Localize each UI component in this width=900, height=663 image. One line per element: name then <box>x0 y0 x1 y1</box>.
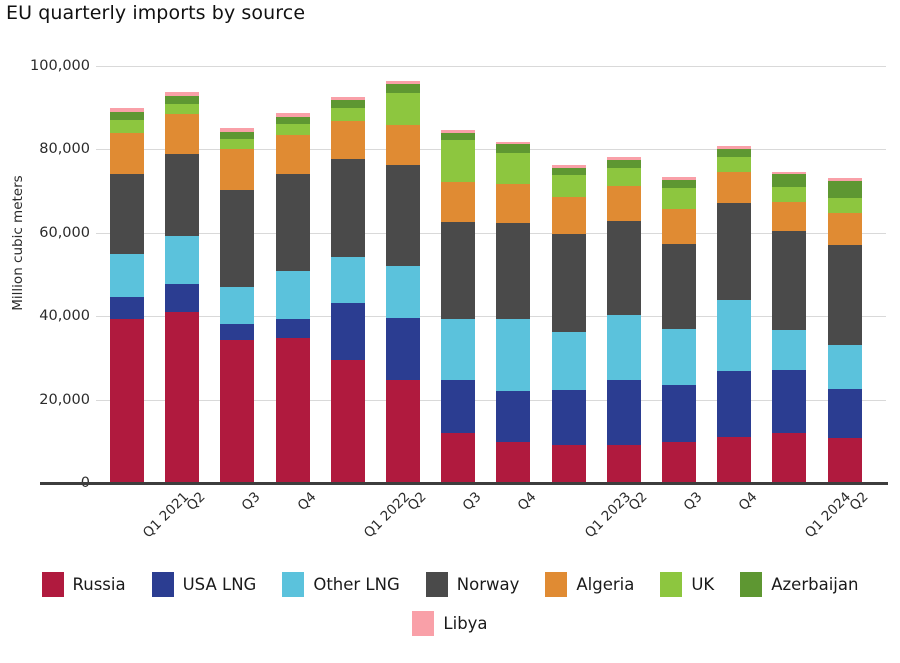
bar-segment-uk[interactable] <box>552 175 586 196</box>
bar-segment-norway[interactable] <box>828 245 862 345</box>
bar-segment-uk[interactable] <box>110 120 144 133</box>
y-axis-tick-label: 80,000 <box>39 141 90 157</box>
stacked-bar[interactable] <box>496 142 530 483</box>
legend-item-algeria[interactable]: Algeria <box>545 572 634 597</box>
bar-segment-azerbaijan[interactable] <box>662 180 696 188</box>
x-axis-tick-label: Q2 <box>625 489 650 514</box>
legend-row-primary: RussiaUSA LNGOther LNGNorwayAlgeriaUKAze… <box>0 572 900 597</box>
legend-item-libya[interactable]: Libya <box>412 611 487 636</box>
bar-segment-other-lng[interactable] <box>552 332 586 390</box>
legend-swatch <box>426 572 448 597</box>
bar-segment-other-lng[interactable] <box>220 287 254 324</box>
x-axis-tick-label: Q3 <box>239 489 264 514</box>
bar-segment-norway[interactable] <box>276 174 310 272</box>
bar-segment-russia[interactable] <box>717 437 751 483</box>
bar-segment-algeria[interactable] <box>331 121 365 159</box>
bar-segment-russia[interactable] <box>276 338 310 483</box>
bar-segment-usa-lng[interactable] <box>496 391 530 441</box>
bar-segment-uk[interactable] <box>165 104 199 115</box>
bar-segment-russia[interactable] <box>165 312 199 483</box>
bar-segment-other-lng[interactable] <box>110 254 144 297</box>
bar-segment-algeria[interactable] <box>717 172 751 203</box>
bar-segment-russia[interactable] <box>496 442 530 483</box>
bar-segment-uk[interactable] <box>607 168 641 186</box>
y-axis-tick-label: 60,000 <box>39 225 90 241</box>
bar-segment-russia[interactable] <box>607 445 641 483</box>
stacked-bar[interactable] <box>441 130 475 483</box>
legend-item-other-lng[interactable]: Other LNG <box>282 572 399 597</box>
bar-segment-usa-lng[interactable] <box>607 380 641 445</box>
bar-segment-algeria[interactable] <box>607 186 641 221</box>
bar-segment-russia[interactable] <box>662 442 696 483</box>
stacked-bar[interactable] <box>772 172 806 483</box>
bar-segment-uk[interactable] <box>496 153 530 185</box>
bar-segment-other-lng[interactable] <box>828 345 862 389</box>
stacked-bar[interactable] <box>276 113 310 483</box>
bar-segment-russia[interactable] <box>828 438 862 483</box>
bar-segment-uk[interactable] <box>331 108 365 121</box>
legend-label: Azerbaijan <box>771 575 858 594</box>
legend-label: UK <box>691 575 714 594</box>
x-axis-tick-label: Q4 <box>294 489 319 514</box>
bar-segment-usa-lng[interactable] <box>662 385 696 442</box>
stacked-bar[interactable] <box>165 92 199 483</box>
bar-segment-usa-lng[interactable] <box>276 319 310 339</box>
bar-segment-algeria[interactable] <box>165 114 199 153</box>
x-axis-tick-label: Q3 <box>460 489 485 514</box>
bar-segment-usa-lng[interactable] <box>165 284 199 312</box>
bar-segment-algeria[interactable] <box>276 135 310 174</box>
bar-segment-norway[interactable] <box>772 231 806 330</box>
x-axis-tick-label: Q3 <box>681 489 706 514</box>
bar-segment-norway[interactable] <box>607 221 641 314</box>
bar-segment-usa-lng[interactable] <box>331 303 365 361</box>
bar-segment-norway[interactable] <box>331 159 365 257</box>
bar-segment-algeria[interactable] <box>828 213 862 245</box>
plot-area <box>96 66 886 483</box>
legend-label: Algeria <box>576 575 634 594</box>
bar-segment-russia[interactable] <box>441 433 475 483</box>
bar-segment-azerbaijan[interactable] <box>552 168 586 175</box>
bar-segment-uk[interactable] <box>772 187 806 202</box>
legend-swatch <box>545 572 567 597</box>
bar-segment-other-lng[interactable] <box>386 266 420 319</box>
bar-segment-norway[interactable] <box>717 203 751 300</box>
bar-segment-algeria[interactable] <box>662 209 696 243</box>
stacked-bar[interactable] <box>220 128 254 483</box>
legend-swatch <box>42 572 64 597</box>
bar-segment-algeria[interactable] <box>496 184 530 222</box>
bar-segment-uk[interactable] <box>441 140 475 183</box>
bar-segment-russia[interactable] <box>331 360 365 483</box>
legend-row-secondary: Libya <box>0 611 900 636</box>
bar-segment-other-lng[interactable] <box>662 329 696 384</box>
legend-item-azerbaijan[interactable]: Azerbaijan <box>740 572 858 597</box>
bar-segment-azerbaijan[interactable] <box>607 160 641 168</box>
legend-swatch <box>660 572 682 597</box>
x-axis-line <box>40 482 888 485</box>
bar-segment-norway[interactable] <box>552 234 586 332</box>
bar-segment-russia[interactable] <box>552 445 586 483</box>
bar-segment-algeria[interactable] <box>552 197 586 235</box>
bar-segment-other-lng[interactable] <box>276 271 310 319</box>
x-axis-tick-label: Q2 <box>405 489 430 514</box>
bar-segment-algeria[interactable] <box>441 182 475 222</box>
bar-segment-uk[interactable] <box>386 93 420 125</box>
y-axis-title: Million cubic meters <box>10 153 26 333</box>
bar-segment-azerbaijan[interactable] <box>496 144 530 152</box>
legend-label: Russia <box>73 575 126 594</box>
bar-segment-usa-lng[interactable] <box>110 297 144 319</box>
bar-segment-norway[interactable] <box>662 244 696 329</box>
legend-item-usa-lng[interactable]: USA LNG <box>152 572 257 597</box>
bar-segment-algeria[interactable] <box>220 149 254 190</box>
gridline <box>96 66 886 67</box>
y-axis-tick-label: 100,000 <box>30 58 90 74</box>
bar-segment-usa-lng[interactable] <box>828 389 862 438</box>
bar-segment-azerbaijan[interactable] <box>828 181 862 199</box>
y-axis-tick-label: 40,000 <box>39 308 90 324</box>
stacked-bar[interactable] <box>662 177 696 483</box>
bar-segment-azerbaijan[interactable] <box>386 84 420 93</box>
x-axis-tick-label: Q1 2022 <box>361 489 413 541</box>
bar-segment-other-lng[interactable] <box>496 319 530 391</box>
legend-swatch <box>740 572 762 597</box>
bar-segment-azerbaijan[interactable] <box>220 132 254 139</box>
stacked-bar[interactable] <box>717 146 751 483</box>
legend-item-uk[interactable]: UK <box>660 572 714 597</box>
bar-segment-azerbaijan[interactable] <box>772 174 806 187</box>
stacked-bar[interactable] <box>607 157 641 483</box>
bar-segment-usa-lng[interactable] <box>441 380 475 433</box>
bar-segment-uk[interactable] <box>220 139 254 149</box>
x-axis-tick-label: Q1 2023 <box>582 489 634 541</box>
bar-segment-uk[interactable] <box>276 124 310 134</box>
bar-segment-algeria[interactable] <box>110 133 144 175</box>
x-axis-tick-label: Q4 <box>515 489 540 514</box>
legend-label: Other LNG <box>313 575 399 594</box>
bar-segment-algeria[interactable] <box>386 125 420 165</box>
stacked-bar[interactable] <box>110 108 144 483</box>
bar-segment-usa-lng[interactable] <box>717 371 751 437</box>
legend-label: USA LNG <box>183 575 257 594</box>
x-axis-tick-label: Q1 2024 <box>802 489 854 541</box>
bar-segment-azerbaijan[interactable] <box>441 133 475 140</box>
bar-segment-norway[interactable] <box>220 190 254 287</box>
legend-swatch <box>152 572 174 597</box>
bar-segment-other-lng[interactable] <box>331 257 365 303</box>
gridline <box>96 233 886 234</box>
legend-label: Norway <box>457 575 520 594</box>
legend-swatch <box>412 611 434 636</box>
bar-segment-azerbaijan[interactable] <box>165 96 199 104</box>
bar-segment-other-lng[interactable] <box>165 236 199 284</box>
bar-segment-azerbaijan[interactable] <box>331 100 365 108</box>
stacked-bar[interactable] <box>828 178 862 483</box>
stacked-bar[interactable] <box>331 97 365 483</box>
bar-segment-russia[interactable] <box>386 380 420 483</box>
bar-segment-uk[interactable] <box>828 198 862 213</box>
bar-segment-uk[interactable] <box>717 157 751 172</box>
bar-segment-other-lng[interactable] <box>772 330 806 370</box>
bar-segment-other-lng[interactable] <box>441 319 475 381</box>
x-axis-tick-label: Q2 <box>846 489 871 514</box>
bar-segment-azerbaijan[interactable] <box>110 112 144 120</box>
gridline <box>96 400 886 401</box>
gridline <box>96 316 886 317</box>
stacked-bar[interactable] <box>552 165 586 483</box>
legend: RussiaUSA LNGOther LNGNorwayAlgeriaUKAze… <box>0 572 900 650</box>
gridline <box>96 149 886 150</box>
legend-item-russia[interactable]: Russia <box>42 572 126 597</box>
bar-segment-norway[interactable] <box>110 174 144 254</box>
bar-segment-azerbaijan[interactable] <box>276 117 310 125</box>
legend-item-norway[interactable]: Norway <box>426 572 520 597</box>
bar-segment-algeria[interactable] <box>772 202 806 232</box>
bar-segment-russia[interactable] <box>220 340 254 483</box>
bar-segment-norway[interactable] <box>496 223 530 319</box>
bar-segment-azerbaijan[interactable] <box>717 149 751 157</box>
stacked-bar[interactable] <box>386 81 420 483</box>
bar-segment-uk[interactable] <box>662 188 696 209</box>
bar-segment-russia[interactable] <box>110 319 144 483</box>
bar-segment-usa-lng[interactable] <box>386 318 420 380</box>
bar-segment-usa-lng[interactable] <box>772 370 806 433</box>
x-axis-tick-label: Q2 <box>184 489 209 514</box>
bar-segment-norway[interactable] <box>386 165 420 265</box>
bar-segment-norway[interactable] <box>441 222 475 319</box>
bar-segment-norway[interactable] <box>165 154 199 237</box>
bar-segment-usa-lng[interactable] <box>220 324 254 340</box>
y-axis-tick-label: 20,000 <box>39 392 90 408</box>
bar-segment-usa-lng[interactable] <box>552 390 586 445</box>
x-axis-tick-label: Q1 2021 <box>140 489 192 541</box>
bar-segment-other-lng[interactable] <box>607 315 641 380</box>
legend-label: Libya <box>443 614 487 633</box>
x-axis-tick-label: Q4 <box>736 489 761 514</box>
bar-segment-other-lng[interactable] <box>717 300 751 371</box>
legend-swatch <box>282 572 304 597</box>
bar-segment-russia[interactable] <box>772 433 806 483</box>
